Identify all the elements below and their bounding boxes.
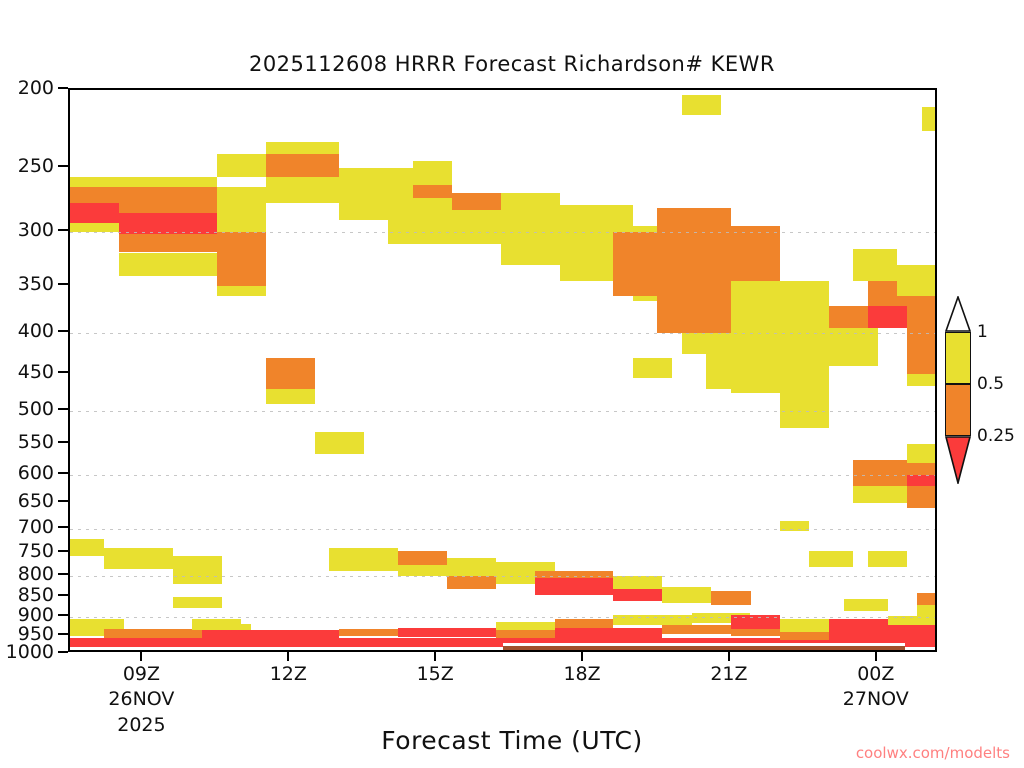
colorbar-legend[interactable]: 10.50.25 (941, 296, 1024, 496)
x-tick-label: 21Z (710, 663, 747, 685)
colorbar-tick-label: 0.5 (977, 374, 1004, 394)
y-tick-mark (58, 330, 68, 332)
y-tick-label: 400 (18, 320, 54, 342)
colorbar-tick-label: 0.25 (977, 426, 1015, 446)
colorbar-segment-0.25-to-0.5-orange (945, 384, 971, 436)
colorbar-segment-0.5-to-1-yellow (945, 332, 971, 384)
y-tick-label: 300 (18, 219, 54, 241)
page-title: 2025112608 HRRR Forecast Richardson# KEW… (0, 52, 1024, 76)
x-tick-sublabel-date: 27NOV (843, 688, 909, 710)
colorbar-tick-label: 1 (977, 322, 988, 342)
y-tick-label: 700 (18, 516, 54, 538)
x-tick-label: 18Z (563, 663, 600, 685)
watermark: coolwx.com/modelts (856, 744, 1010, 762)
y-tick-mark (58, 441, 68, 443)
colorbar-over-arrow (945, 296, 971, 332)
x-tick-label: 12Z (270, 663, 307, 685)
y-tick-label: 750 (18, 540, 54, 562)
y-tick-mark (58, 651, 68, 653)
x-tick-mark (140, 652, 142, 661)
y-tick-mark (58, 573, 68, 575)
chart-root: 2025112608 HRRR Forecast Richardson# KEW… (0, 0, 1024, 768)
y-tick-label: 450 (18, 361, 54, 383)
y-tick-label: 1000 (6, 641, 54, 663)
y-tick-label: 650 (18, 490, 54, 512)
x-tick-mark (287, 652, 289, 661)
y-tick-mark (58, 408, 68, 410)
y-tick-mark (58, 229, 68, 231)
y-tick-mark (58, 614, 68, 616)
terrain-band (70, 90, 935, 650)
y-tick-label: 500 (18, 398, 54, 420)
y-tick-mark (58, 283, 68, 285)
y-tick-label: 550 (18, 431, 54, 453)
y-tick-mark (58, 594, 68, 596)
y-axis: 2002503003504004505005506006507007508008… (0, 88, 68, 652)
y-tick-mark (58, 472, 68, 474)
y-tick-mark (58, 633, 68, 635)
x-tick-label: 15Z (417, 663, 454, 685)
y-tick-label: 200 (18, 77, 54, 99)
x-tick-mark (728, 652, 730, 661)
y-tick-mark (58, 371, 68, 373)
y-tick-label: 800 (18, 563, 54, 585)
y-tick-mark (58, 500, 68, 502)
colorbar-under-arrow (945, 436, 971, 484)
x-tick-label: 00Z (857, 663, 894, 685)
x-tick-mark (875, 652, 877, 661)
x-tick-mark (434, 652, 436, 661)
y-tick-mark (58, 87, 68, 89)
y-tick-mark (58, 526, 68, 528)
y-tick-label: 350 (18, 273, 54, 295)
y-tick-label: 250 (18, 155, 54, 177)
y-tick-label: 850 (18, 584, 54, 606)
y-tick-label: 600 (18, 462, 54, 484)
x-tick-sublabel-date: 26NOV (108, 688, 174, 710)
y-tick-mark (58, 165, 68, 167)
x-tick-mark (581, 652, 583, 661)
x-tick-label: 09Z (123, 663, 160, 685)
plot-area[interactable] (68, 88, 937, 652)
y-tick-mark (58, 550, 68, 552)
